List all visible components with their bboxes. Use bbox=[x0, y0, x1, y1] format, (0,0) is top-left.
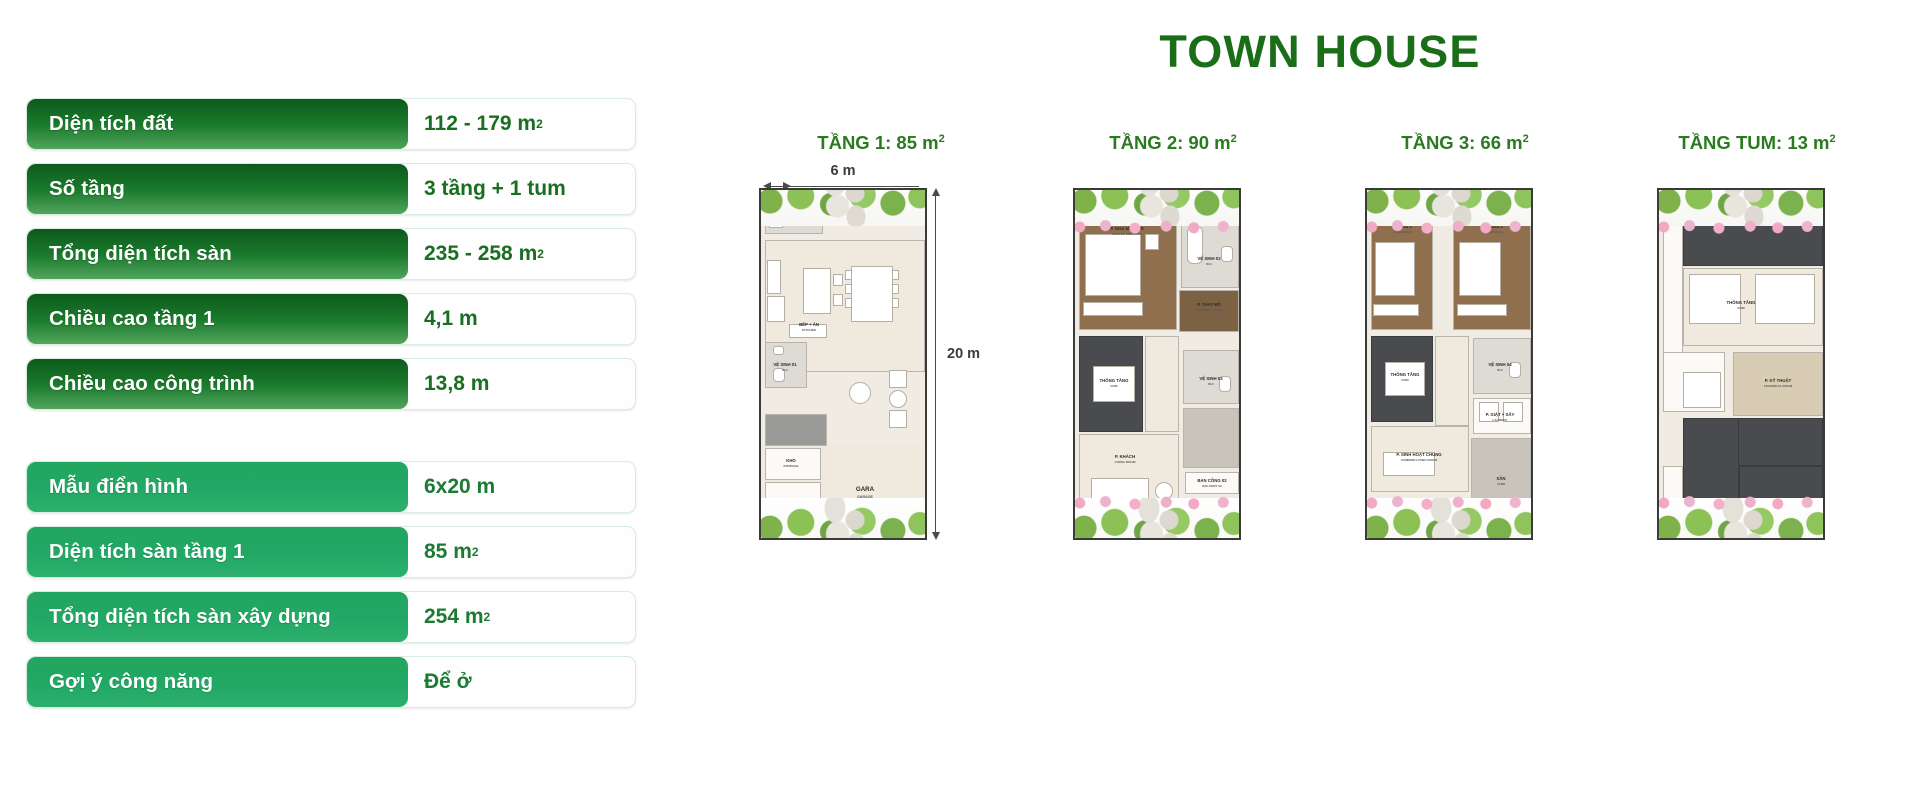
room-label-name: BAN CÔNG 02 bbox=[1197, 478, 1226, 483]
floor-plan-drawing-1: BẾP ƯỚTWET KITCHEN BẾP + ĂNKITCHEN VỆ SI… bbox=[759, 188, 927, 540]
room-label-name: GARA bbox=[856, 486, 874, 493]
room-label-name: THÔNG TẦNG bbox=[1727, 300, 1756, 305]
spec-row: Tổng diện tích sàn 235 - 258 m2 bbox=[26, 228, 636, 280]
room-label-sub: LAUNDRY bbox=[1486, 418, 1515, 422]
spec-label: Chiều cao tầng 1 bbox=[27, 294, 408, 344]
room-label-sub: COMMON LIVING ROOM bbox=[1396, 458, 1441, 462]
room-label: P. KỸ THUẬTTECHNICAL ROOM bbox=[1764, 378, 1792, 389]
room-label-name: P. KỸ THUẬT bbox=[1765, 378, 1791, 383]
floor-plan-drawing-4: THÔNG TẦNGVOID P. KỸ THUẬTTECHNICAL ROOM bbox=[1657, 188, 1825, 540]
bed bbox=[1375, 242, 1415, 296]
spec-group-primary: Diện tích đất 112 - 179 m2 Số tầng 3 tần… bbox=[26, 98, 636, 423]
floor-plans-row: TẦNG 1: 85 m2 6 m 20 m bbox=[735, 132, 1905, 672]
stone-path bbox=[820, 498, 870, 540]
room-label-name: SÂN bbox=[1496, 476, 1505, 481]
spec-row: Diện tích sàn tầng 1 85 m2 bbox=[26, 526, 636, 578]
spec-value-text: 235 - 258 m bbox=[424, 242, 537, 266]
void-block-right bbox=[1755, 274, 1815, 324]
spec-row: Mẫu điển hình 6x20 m bbox=[26, 461, 636, 513]
chair bbox=[892, 284, 899, 294]
spec-value-superscript: 2 bbox=[484, 610, 491, 624]
spec-group-typical-unit: Mẫu điển hình 6x20 m Diện tích sàn tầng … bbox=[26, 461, 636, 721]
room-label-sub: KITCHEN bbox=[799, 328, 819, 332]
spec-value: 4,1 m bbox=[408, 294, 635, 344]
room-label: P. SINH HOẠT CHUNGCOMMON LIVING ROOM bbox=[1396, 452, 1441, 463]
room-label-name: P. KHÁCH bbox=[1115, 454, 1135, 459]
room-label-sub: VOID bbox=[1727, 306, 1756, 310]
spec-value: 254 m2 bbox=[408, 592, 635, 642]
room-label-name: THÔNG TẦNG bbox=[1100, 378, 1129, 383]
room-label: THÔNG TẦNGVOID bbox=[1100, 378, 1129, 389]
room-label: VỆ SINH 04W.C bbox=[1488, 362, 1511, 373]
room-label-name: BẾP + ĂN bbox=[799, 322, 819, 327]
spec-label: Diện tích sàn tầng 1 bbox=[27, 527, 408, 577]
spec-value: 6x20 m bbox=[408, 462, 635, 512]
room-label-sub: VOID bbox=[1100, 384, 1129, 388]
floor-plan-caption: TẦNG TUM: 13 m2 bbox=[1611, 132, 1903, 154]
room-label-sub: VOID bbox=[1391, 378, 1420, 382]
room-label: KHOSTORAGE bbox=[783, 458, 798, 469]
wardrobe bbox=[1457, 304, 1507, 316]
spec-value: 112 - 179 m2 bbox=[408, 99, 635, 149]
spec-value-text: 254 m bbox=[424, 605, 484, 629]
chair bbox=[833, 274, 843, 286]
floor-plan-caption: TẦNG 2: 90 m2 bbox=[1027, 132, 1319, 154]
room-label: VỆ SINH 03W.C bbox=[1199, 376, 1222, 387]
floor-plan-caption-superscript: 2 bbox=[1829, 133, 1835, 145]
page-title: TOWN HOUSE bbox=[1110, 26, 1530, 78]
armchair bbox=[889, 410, 907, 428]
nightstand bbox=[1145, 234, 1159, 250]
room-label: P. KHÁCHLIVING ROOM bbox=[1115, 454, 1136, 465]
room-label-sub: W.C bbox=[1199, 382, 1222, 386]
corridor bbox=[1435, 336, 1469, 426]
plan-frame: THÔNG TẦNGVOID P. KỸ THUẬTTECHNICAL ROOM bbox=[1657, 188, 1825, 540]
corridor bbox=[1145, 336, 1179, 432]
infographic-page: Diện tích đất 112 - 179 m2 Số tầng 3 tần… bbox=[0, 0, 1920, 801]
spec-row: Gợi ý công năng Để ở bbox=[26, 656, 636, 708]
flower-bed bbox=[1073, 496, 1241, 510]
room-label: VỆ SINH 01W.C bbox=[773, 362, 796, 373]
room-label-sub: DRESSING ROOM bbox=[1196, 308, 1223, 312]
chair bbox=[892, 298, 899, 308]
plan-frame: BAN CÔNG 03BALCONY 03 BAN CÔNG 04BALCONY… bbox=[1365, 188, 1533, 540]
spec-value-text: 3 tầng + 1 tum bbox=[424, 177, 566, 201]
armchair bbox=[889, 370, 907, 388]
chair bbox=[845, 284, 852, 294]
spec-label: Chiều cao công trình bbox=[27, 359, 408, 409]
spec-value-text: 4,1 m bbox=[424, 307, 478, 331]
flower-bed bbox=[1365, 496, 1533, 510]
spec-value-superscript: 2 bbox=[536, 117, 543, 131]
spec-label: Tổng diện tích sàn bbox=[27, 229, 408, 279]
spec-value-text: 6x20 m bbox=[424, 475, 495, 499]
room-label-name: VỆ SINH 01 bbox=[773, 362, 796, 367]
spec-label: Gợi ý công năng bbox=[27, 657, 408, 707]
room-label-name: VỆ SINH 02 bbox=[1197, 256, 1220, 261]
kitchen-island bbox=[803, 268, 831, 314]
room-label-name: VỆ SINH 03 bbox=[1199, 376, 1222, 381]
room-label: VỆ SINH 02W.C bbox=[1197, 256, 1220, 267]
front-garden bbox=[759, 188, 927, 226]
chair bbox=[845, 298, 852, 308]
depth-dimension: 20 m bbox=[931, 188, 1001, 540]
spec-label: Số tầng bbox=[27, 164, 408, 214]
room-label-sub: W.C bbox=[1488, 368, 1511, 372]
room-label-sub: W.C bbox=[1197, 262, 1220, 266]
terrace bbox=[1183, 408, 1239, 468]
room-label: P. GIẶT + SẤYLAUNDRY bbox=[1486, 412, 1515, 423]
room-label: BẾP + ĂNKITCHEN bbox=[799, 322, 819, 333]
bed bbox=[1459, 242, 1501, 296]
spec-row: Chiều cao tầng 1 4,1 m bbox=[26, 293, 636, 345]
floor-plan-drawing-2: BAN CÔNG 01BALCONY 01 P. NGỦ MASTERMASTE… bbox=[1073, 188, 1241, 540]
floor-plan-caption: TẦNG 1: 85 m2 bbox=[735, 132, 1027, 154]
sink bbox=[773, 346, 784, 355]
floor-plan-caption: TẦNG 3: 66 m2 bbox=[1319, 132, 1611, 154]
spec-label: Mẫu điển hình bbox=[27, 462, 408, 512]
room-label-name: P. SINH HOẠT CHUNG bbox=[1396, 452, 1441, 457]
spec-value: 3 tầng + 1 tum bbox=[408, 164, 635, 214]
room-label: THÔNG TẦNGVOID bbox=[1727, 300, 1756, 311]
void-block-left bbox=[1689, 274, 1741, 324]
cabinet bbox=[767, 296, 785, 322]
wardrobe bbox=[1083, 302, 1143, 316]
floor-plan-1: TẦNG 1: 85 m2 6 m 20 m bbox=[735, 132, 1027, 672]
floor-plan-caption-text: TẦNG 2: 90 m bbox=[1109, 132, 1230, 153]
spec-value: 13,8 m bbox=[408, 359, 635, 409]
spec-row: Tổng diện tích sàn xây dựng 254 m2 bbox=[26, 591, 636, 643]
spec-value-text: 85 m bbox=[424, 540, 472, 564]
dining-table bbox=[851, 266, 893, 322]
room-label-sub: TECHNICAL ROOM bbox=[1764, 384, 1792, 388]
plan-frame: BAN CÔNG 01BALCONY 01 P. NGỦ MASTERMASTE… bbox=[1073, 188, 1241, 540]
flower-bed bbox=[1365, 220, 1533, 234]
chair bbox=[833, 294, 843, 306]
chair bbox=[845, 270, 852, 280]
spec-value-text: 13,8 m bbox=[424, 372, 489, 396]
spec-value: 235 - 258 m2 bbox=[408, 229, 635, 279]
floor-plan-caption-superscript: 2 bbox=[939, 133, 945, 145]
floor-plan-4: TẦNG TUM: 13 m2 bbox=[1611, 132, 1903, 672]
room-label-name: P. GIẶT + SẤY bbox=[1486, 412, 1515, 417]
chair bbox=[892, 270, 899, 280]
round-table bbox=[849, 382, 871, 404]
floor-plan-caption-superscript: 2 bbox=[1523, 133, 1529, 145]
arrow-down-icon bbox=[932, 532, 940, 540]
room-label-sub: BALCONY 02 bbox=[1197, 484, 1226, 488]
room-label-name: KHO bbox=[786, 458, 796, 463]
spec-value-superscript: 2 bbox=[472, 545, 479, 559]
floor-plan-caption-superscript: 2 bbox=[1231, 133, 1237, 145]
room-label: SÂNYARD bbox=[1496, 476, 1505, 487]
room-label: P. THAY ĐỒDRESSING ROOM bbox=[1196, 302, 1223, 313]
room-label-sub: W.C bbox=[773, 368, 796, 372]
flower-bed bbox=[1073, 220, 1241, 234]
flower-bed bbox=[1657, 220, 1825, 234]
depth-dimension-line bbox=[935, 192, 936, 536]
spec-row: Số tầng 3 tầng + 1 tum bbox=[26, 163, 636, 215]
staircase bbox=[765, 414, 827, 446]
room-label-name: P. THAY ĐỒ bbox=[1197, 302, 1221, 307]
plan-frame: BẾP ƯỚTWET KITCHEN BẾP + ĂNKITCHEN VỆ SI… bbox=[759, 188, 927, 540]
room-label: BAN CÔNG 02BALCONY 02 bbox=[1197, 478, 1226, 489]
wardrobe bbox=[1373, 304, 1419, 316]
spec-label: Tổng diện tích sàn xây dựng bbox=[27, 592, 408, 642]
room-label-name: VỆ SINH 04 bbox=[1488, 362, 1511, 367]
room-label-name: THÔNG TẦNG bbox=[1391, 372, 1420, 377]
floor-plan-3: TẦNG 3: 66 m2 bbox=[1319, 132, 1611, 672]
back-garden bbox=[759, 498, 927, 540]
service-block bbox=[1683, 372, 1721, 408]
floor-plan-2: TẦNG 2: 90 m2 bbox=[1027, 132, 1319, 672]
spec-row: Diện tích đất 112 - 179 m2 bbox=[26, 98, 636, 150]
spec-value-text: Để ở bbox=[424, 670, 472, 694]
width-dimension-label: 6 m bbox=[763, 163, 923, 179]
stone-path bbox=[820, 188, 870, 226]
spec-table: Diện tích đất 112 - 179 m2 Số tầng 3 tần… bbox=[26, 98, 636, 721]
flower-bed bbox=[1657, 496, 1825, 510]
floor-plan-caption-text: TẦNG TUM: 13 m bbox=[1678, 132, 1829, 153]
spec-value-superscript: 2 bbox=[537, 247, 544, 261]
bed bbox=[1085, 234, 1141, 296]
room-label-sub: YARD bbox=[1496, 482, 1505, 486]
spec-row: Chiều cao công trình 13,8 m bbox=[26, 358, 636, 410]
depth-dimension-label: 20 m bbox=[947, 346, 980, 362]
room-label: THÔNG TẦNGVOID bbox=[1391, 372, 1420, 383]
armchair bbox=[889, 390, 907, 408]
floor-plan-caption-text: TẦNG 3: 66 m bbox=[1401, 132, 1522, 153]
floor-plan-drawing-3: BAN CÔNG 03BALCONY 03 BAN CÔNG 04BALCONY… bbox=[1365, 188, 1533, 540]
cabinet bbox=[767, 260, 781, 294]
floor-plan-caption-text: TẦNG 1: 85 m bbox=[817, 132, 938, 153]
arrow-up-icon bbox=[932, 188, 940, 196]
room-label-sub: STORAGE bbox=[783, 464, 798, 468]
spec-value: 85 m2 bbox=[408, 527, 635, 577]
spec-value: Để ở bbox=[408, 657, 635, 707]
room-label-sub: LIVING ROOM bbox=[1115, 460, 1136, 464]
toilet bbox=[1221, 246, 1233, 262]
spec-label: Diện tích đất bbox=[27, 99, 408, 149]
spec-value-text: 112 - 179 m bbox=[424, 112, 536, 136]
